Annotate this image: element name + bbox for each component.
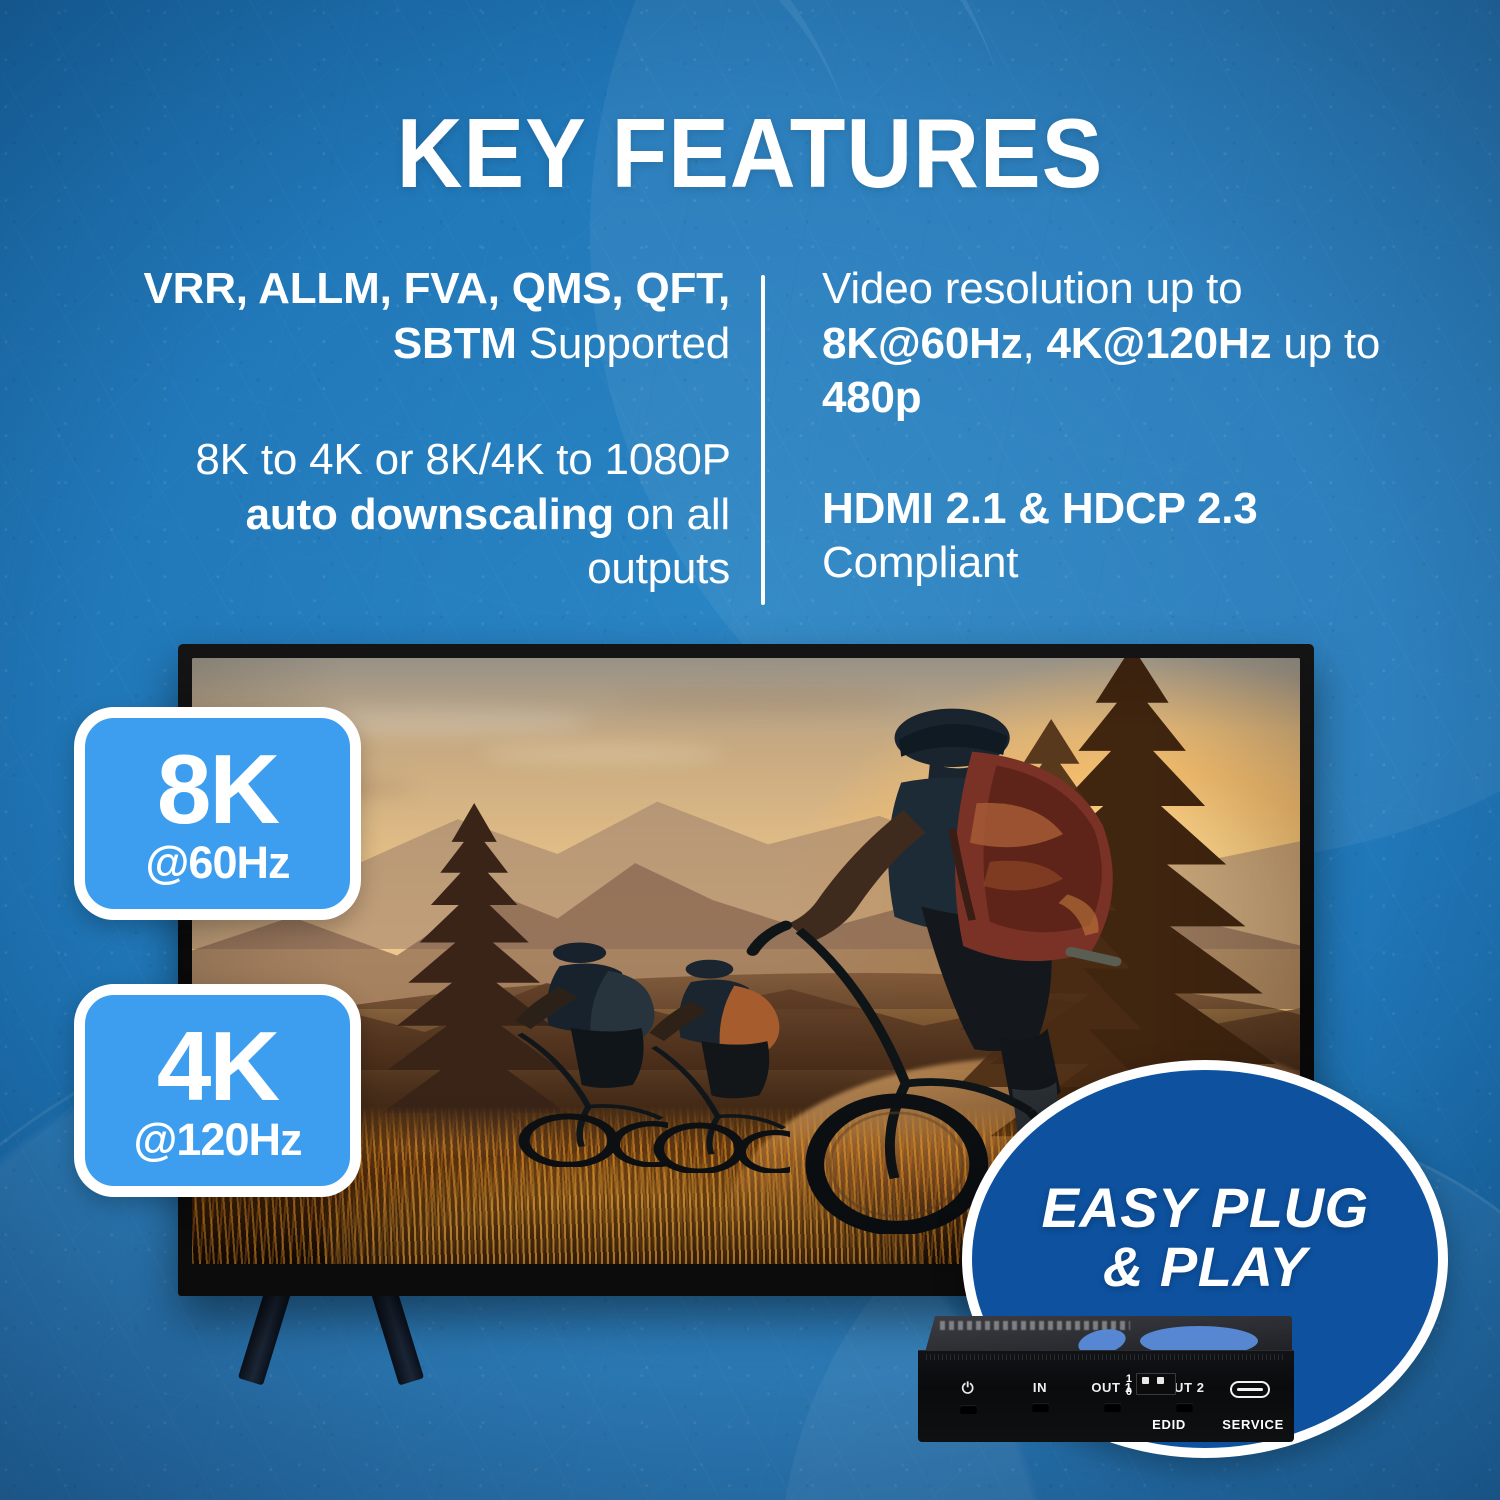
badge-8k-secondary: @60Hz [146, 840, 290, 885]
device-port-hole [1176, 1403, 1193, 1412]
hdmi-splitter-device: ⏻ IN OUT 1 OUT 2 1 [918, 1316, 1294, 1442]
dip-switch-icon [1136, 1373, 1176, 1395]
badge-8k: 8K @60Hz [74, 707, 361, 920]
tv-stand-leg-left [238, 1284, 292, 1385]
easy-plug-play-line1: EASY PLUG [1041, 1178, 1368, 1237]
device-edid-switch-group: 1 0 [1126, 1373, 1176, 1398]
device-port-hole [1032, 1403, 1049, 1412]
device-port-hole [960, 1405, 977, 1414]
dip-switch-numbers: 1 0 [1126, 1373, 1132, 1398]
device-port-hole [1104, 1403, 1121, 1412]
device-front-panel: ⏻ IN OUT 1 OUT 2 1 [918, 1350, 1294, 1442]
tv-stand [258, 1292, 418, 1384]
device-port-power: ⏻ [932, 1381, 1004, 1414]
tv-stand-leg-right [371, 1284, 425, 1385]
scene-cyclist-distant-2 [635, 955, 790, 1173]
device-port-group: ⏻ IN OUT 1 OUT 2 [932, 1381, 1220, 1414]
badge-4k-primary: 4K [157, 1019, 278, 1113]
easy-plug-play-line2: & PLAY [1041, 1237, 1368, 1296]
device-port-in: IN [1004, 1381, 1076, 1414]
power-icon: ⏻ [932, 1381, 1004, 1396]
usb-c-port-icon [1230, 1381, 1270, 1398]
badge-8k-primary: 8K [157, 742, 278, 836]
badge-4k-secondary: @120Hz [134, 1117, 302, 1162]
device-port-in-label: IN [1004, 1381, 1076, 1394]
easy-plug-play-text: EASY PLUG & PLAY [1041, 1178, 1368, 1297]
dip-switch-label-0: 0 [1126, 1386, 1132, 1399]
dip-switch-label-1: 1 [1126, 1373, 1132, 1386]
marketing-image-root: KEY FEATURES VRR, ALLM, FVA, QMS, QFT, S… [0, 0, 1500, 1500]
badge-4k: 4K @120Hz [74, 984, 361, 1197]
device-edid-label: EDID [1152, 1417, 1186, 1432]
device-vent-strip [926, 1354, 1286, 1360]
device-service-label: SERVICE [1222, 1417, 1284, 1432]
